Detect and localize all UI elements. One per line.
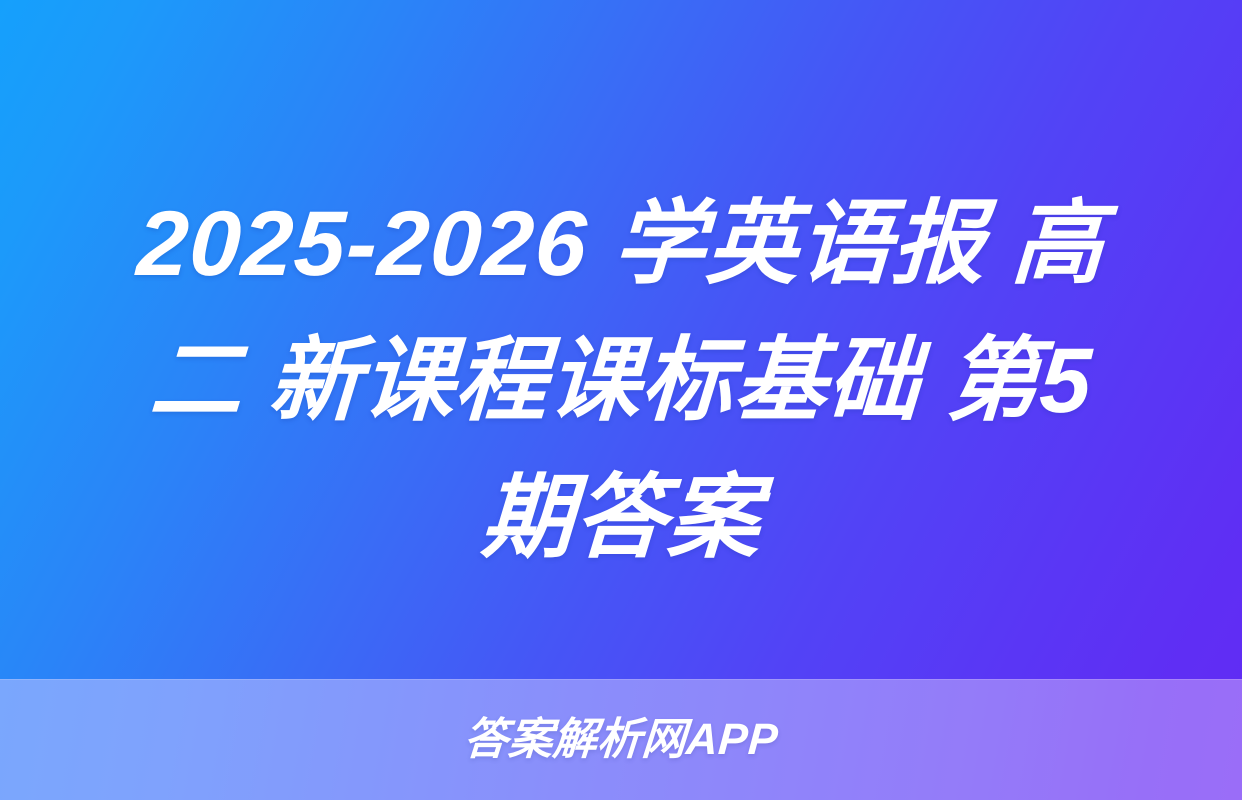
title-line-3-answer: 期答案 xyxy=(479,467,764,569)
title-line-2-grade-tail: 二 xyxy=(147,330,245,432)
footer-band: 答案解析网APP xyxy=(0,679,1242,800)
title-line-1-year: 2025-2026 xyxy=(135,193,590,295)
title-line-2-issue: 第5 xyxy=(944,330,1095,432)
title-line-2-series: 新课程课标基础 xyxy=(266,330,923,432)
title-line-1: 2025-2026学英语报高 xyxy=(0,176,1242,313)
title-line-1-publication: 学英语报 xyxy=(611,193,989,295)
title-line-3: 期答案 xyxy=(0,450,1242,587)
poster-canvas: 2025-2026学英语报高 二新课程课标基础第5 期答案 答案解析网APP xyxy=(0,0,1242,800)
poster-title: 2025-2026学英语报高 二新课程课标基础第5 期答案 xyxy=(0,176,1242,626)
footer-brand-label: 答案解析网APP xyxy=(462,714,780,766)
title-line-2: 二新课程课标基础第5 xyxy=(0,313,1242,450)
title-line-1-grade-head: 高 xyxy=(1009,193,1107,295)
